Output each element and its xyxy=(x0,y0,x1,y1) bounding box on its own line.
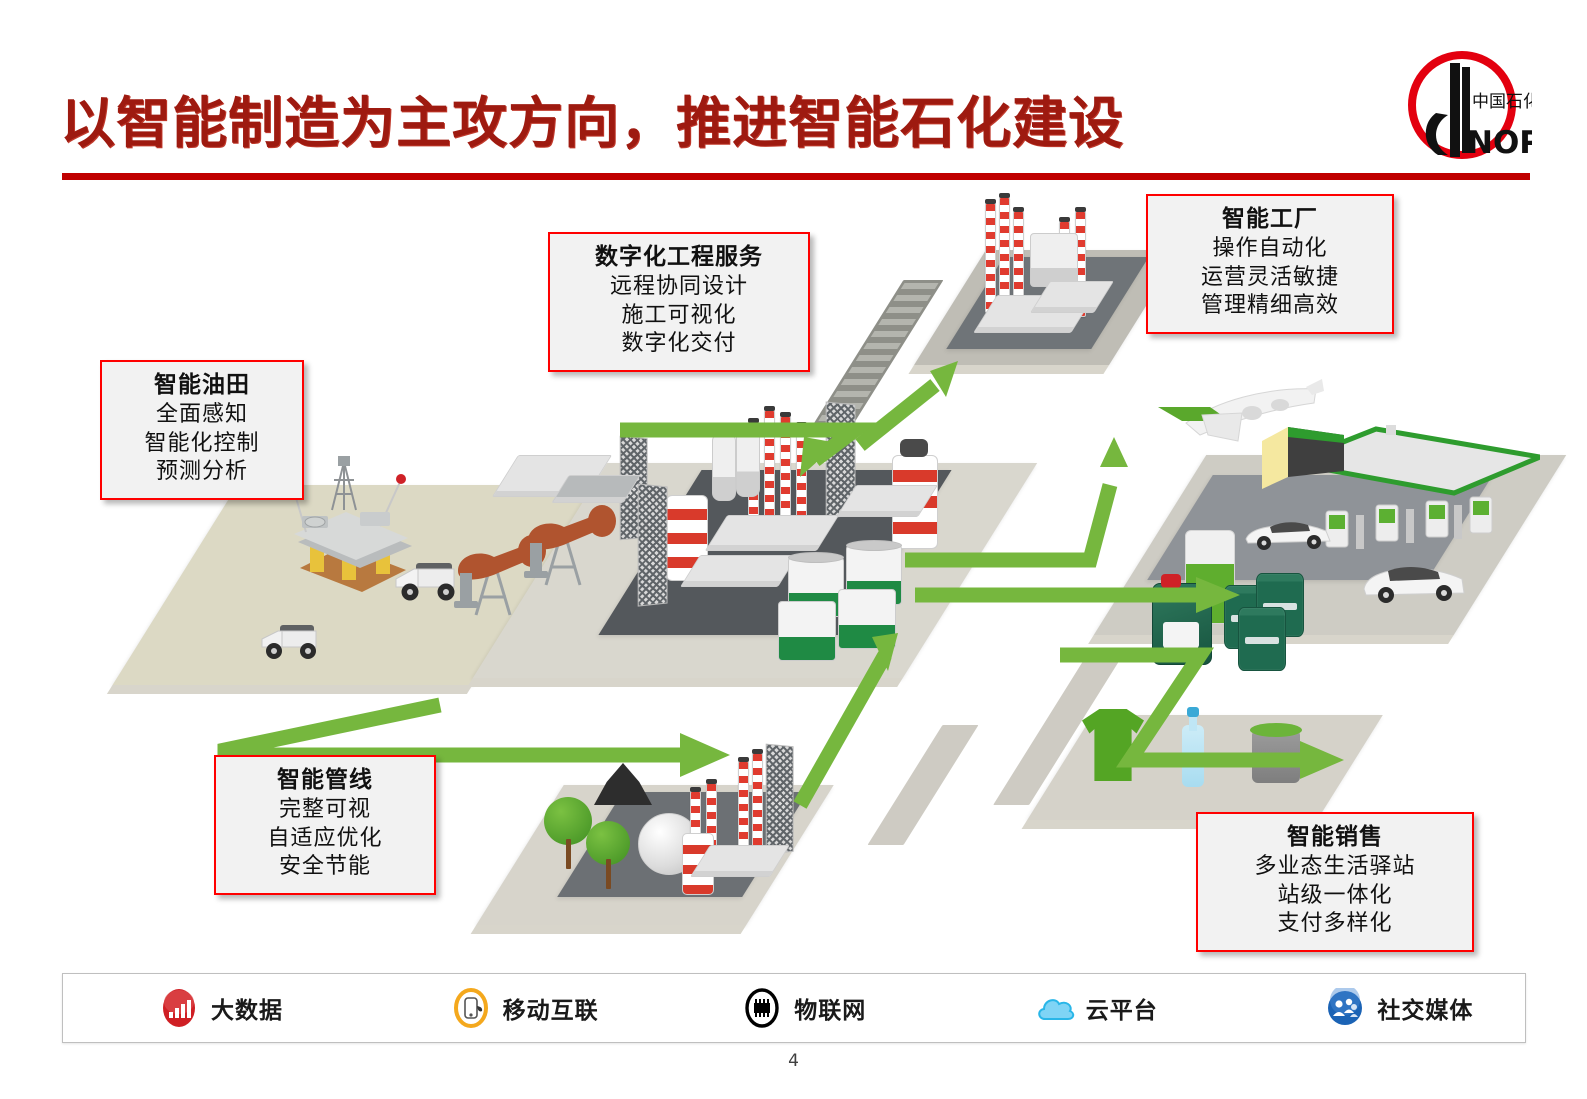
callout-line: 智能化控制 xyxy=(118,430,286,458)
slide-root: 以智能制造为主攻方向，推进智能石化建设 NOPEC 中国石化 xyxy=(0,0,1587,1099)
callout-digital-engineering-service[interactable]: 数字化工程服务 远程协同设计 施工可视化 数字化交付 xyxy=(548,232,810,372)
callout-smart-oilfield[interactable]: 智能油田 全面感知 智能化控制 预测分析 xyxy=(100,360,304,500)
footer-item-social-media[interactable]: 社交媒体 xyxy=(1233,988,1525,1028)
footer-item-iot[interactable]: 物联网 xyxy=(650,988,942,1028)
callout-line: 自适应优化 xyxy=(232,825,418,853)
page-title: 以智能制造为主攻方向，推进智能石化建设 xyxy=(60,78,1124,158)
footer-label: 移动互联 xyxy=(503,991,599,1025)
page-number: 4 xyxy=(0,1051,1587,1071)
callout-line: 管理精细高效 xyxy=(1164,292,1376,320)
callout-line: 预测分析 xyxy=(118,458,286,486)
footer-item-mobile-internet[interactable]: 移动互联 xyxy=(359,988,651,1028)
callout-line: 支付多样化 xyxy=(1214,910,1456,938)
callout-title: 智能管线 xyxy=(232,765,418,794)
callout-line: 运营灵活敏捷 xyxy=(1164,264,1376,292)
callout-title: 智能销售 xyxy=(1214,822,1456,851)
footer-item-cloud-platform[interactable]: 云平台 xyxy=(942,988,1234,1028)
callout-line: 全面感知 xyxy=(118,401,286,429)
svg-text:NOPEC: NOPEC xyxy=(1467,125,1532,161)
footer-label: 物联网 xyxy=(794,991,866,1025)
callout-line: 数字化交付 xyxy=(566,330,792,358)
callout-line: 完整可视 xyxy=(232,796,418,824)
callout-line: 站级一体化 xyxy=(1214,882,1456,910)
technology-footer-bar: 大数据 移动互联 xyxy=(62,973,1526,1043)
chip-icon xyxy=(742,988,782,1028)
callout-smart-sales[interactable]: 智能销售 多业态生活驿站 站级一体化 支付多样化 xyxy=(1196,812,1474,952)
footer-label: 社交媒体 xyxy=(1377,991,1473,1025)
callout-smart-pipeline[interactable]: 智能管线 完整可视 自适应优化 安全节能 xyxy=(214,755,436,895)
title-divider xyxy=(62,173,1530,180)
sinopec-logo: NOPEC 中国石化 xyxy=(1392,45,1532,175)
footer-item-big-data[interactable]: 大数据 xyxy=(63,988,359,1028)
callout-title: 智能工厂 xyxy=(1164,204,1376,233)
callout-title: 数字化工程服务 xyxy=(566,242,792,271)
mobile-phone-icon xyxy=(451,988,491,1028)
callout-title: 智能油田 xyxy=(118,370,286,399)
callout-smart-factory[interactable]: 智能工厂 操作自动化 运营灵活敏捷 管理精细高效 xyxy=(1146,194,1394,334)
bar-chart-icon xyxy=(159,988,199,1028)
callout-line: 施工可视化 xyxy=(566,302,792,330)
callout-line: 远程协同设计 xyxy=(566,273,792,301)
footer-label: 云平台 xyxy=(1086,991,1158,1025)
logo-chinese-text: 中国石化 xyxy=(1472,92,1532,112)
people-icon xyxy=(1325,988,1365,1028)
cloud-icon xyxy=(1034,988,1074,1028)
footer-label: 大数据 xyxy=(211,991,283,1025)
callout-line: 操作自动化 xyxy=(1164,235,1376,263)
callout-line: 安全节能 xyxy=(232,853,418,881)
callout-line: 多业态生活驿站 xyxy=(1214,853,1456,881)
